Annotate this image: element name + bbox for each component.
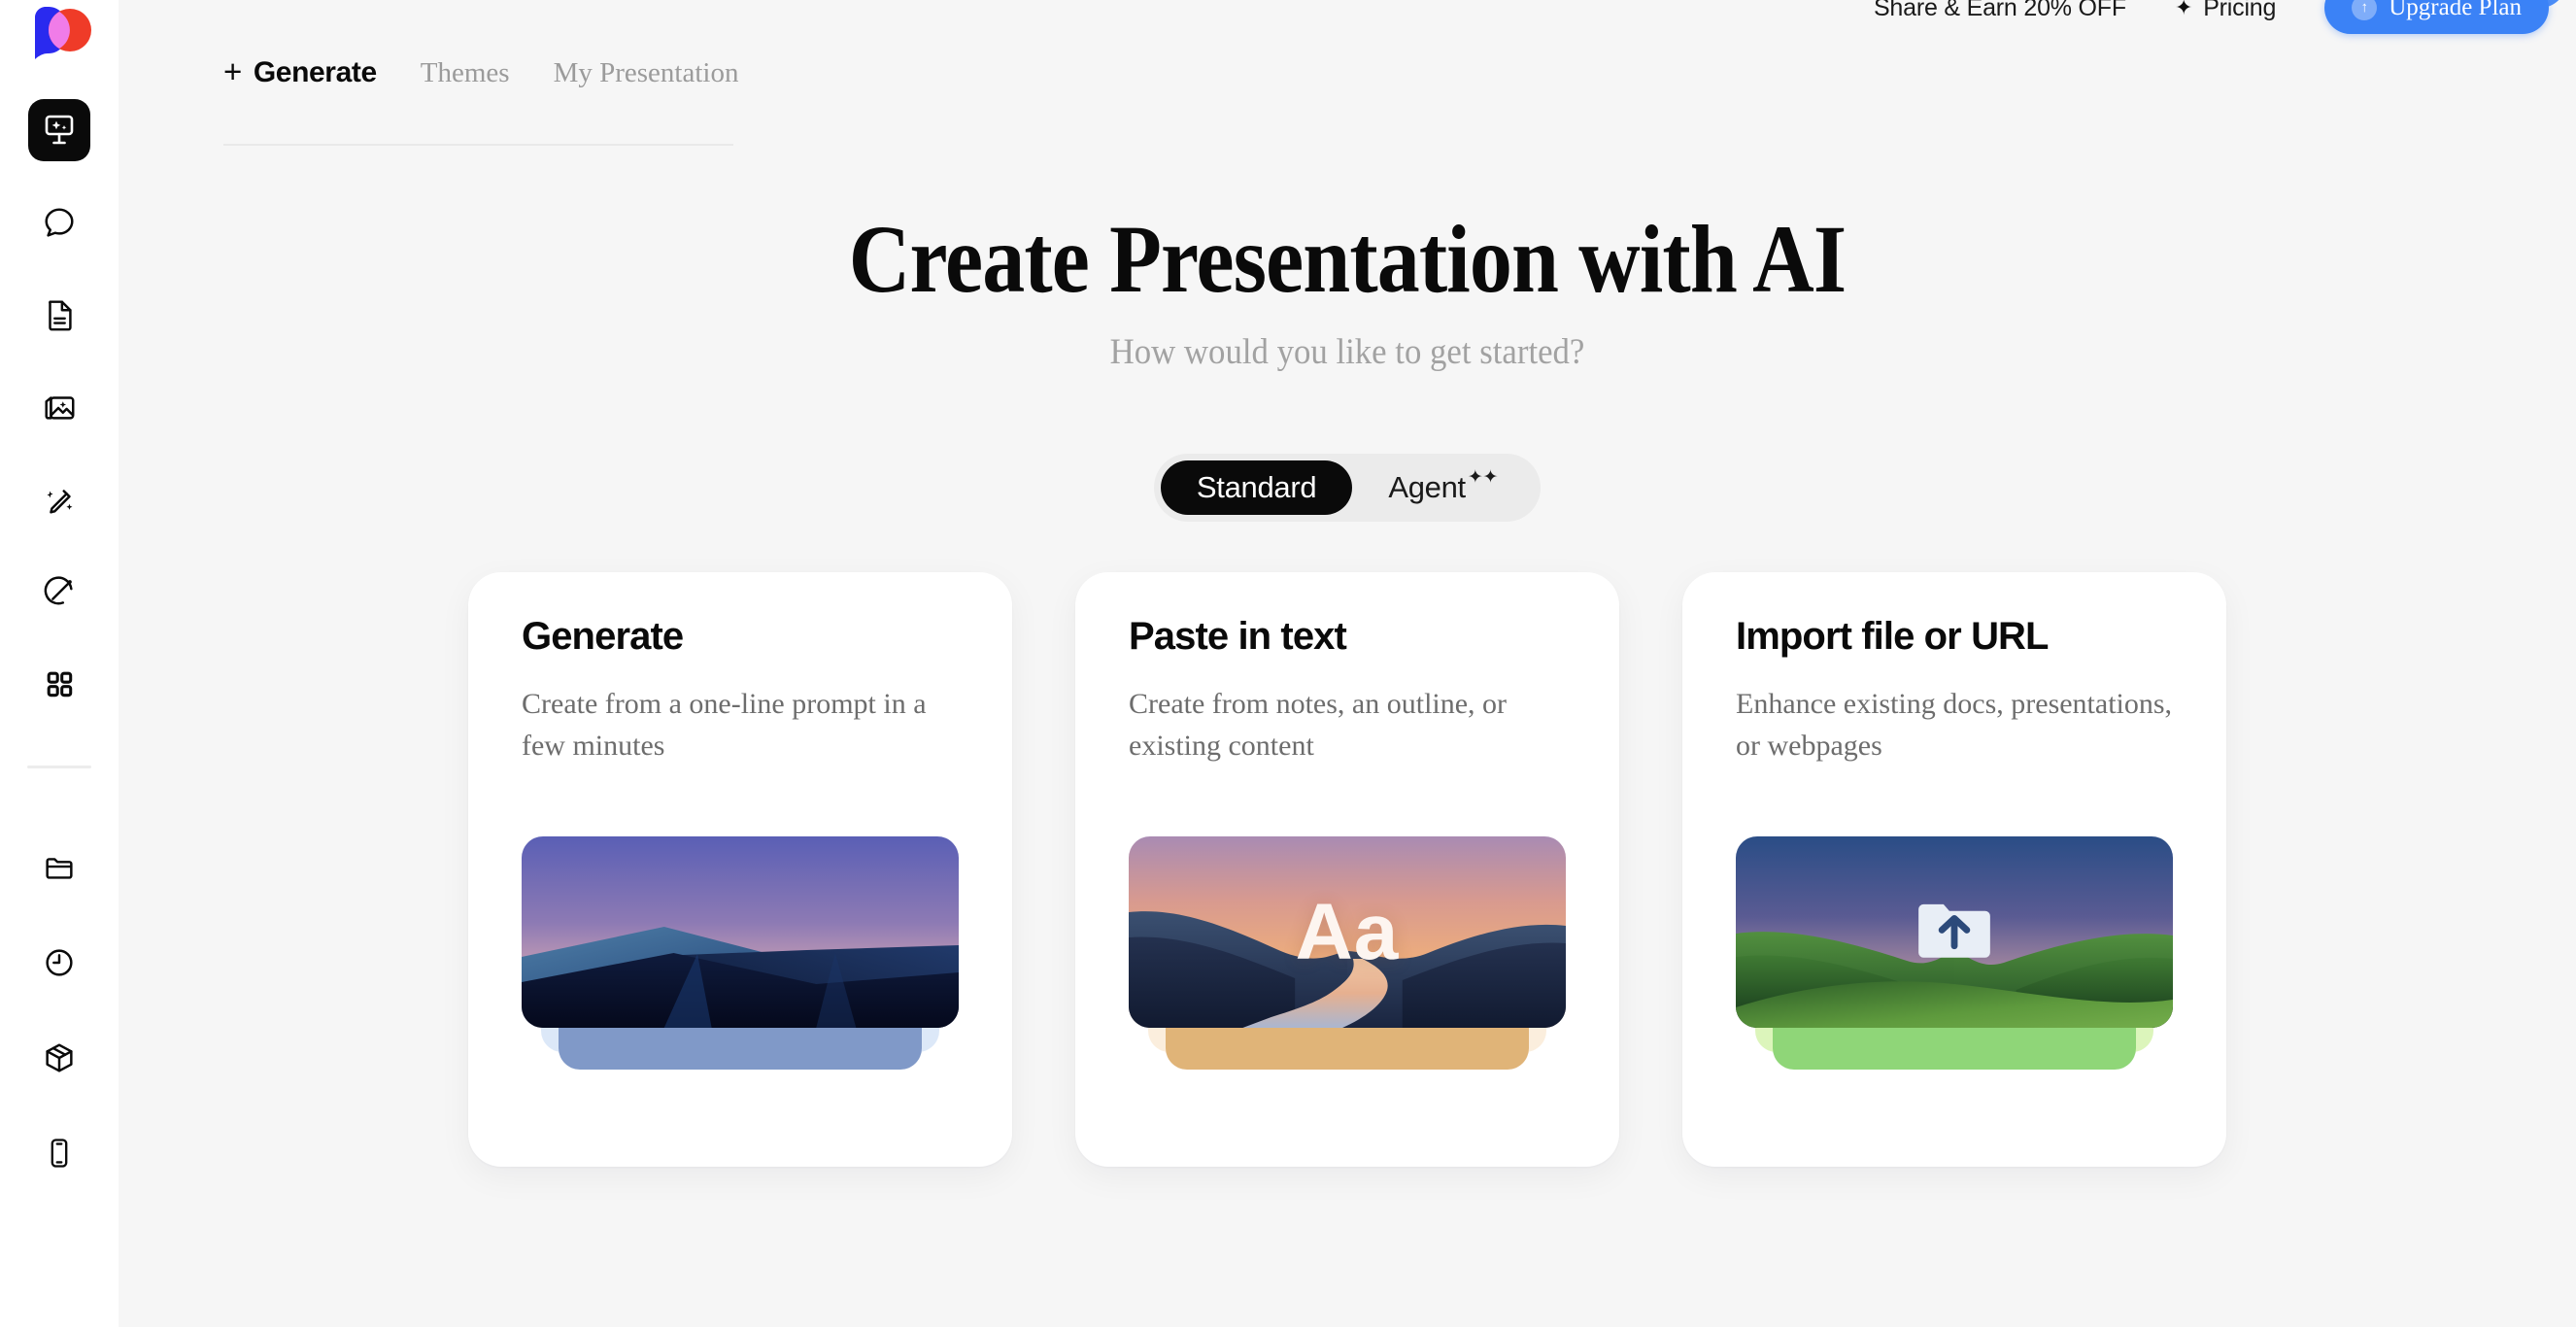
presentation-sparkle-icon (40, 111, 79, 150)
main-content: Share & Earn 20% OFF ✦ Pricing ↑ Upgrade… (119, 0, 2576, 1327)
share-and-earn-link[interactable]: Share & Earn 20% OFF (1874, 0, 2126, 22)
mode-option-agent[interactable]: Agent ✦✦ (1352, 460, 1534, 515)
sparkle-icon: ✦✦ (1468, 468, 1498, 487)
card-generate[interactable]: Generate Create from a one-line prompt i… (468, 572, 1012, 1167)
upload-circle-icon: ↑ (2352, 0, 2377, 20)
card-import-file-or-url-description: Enhance existing docs, presentations, or… (1736, 684, 2173, 766)
sidebar-rail-bottom (0, 836, 119, 1217)
box-icon (41, 1039, 78, 1076)
left-sidebar (0, 0, 119, 1327)
tab-my-presentation[interactable]: My Presentation (554, 57, 739, 89)
hero-section: Create Presentation with AI How would yo… (119, 208, 2576, 373)
mode-toggle: Standard Agent ✦✦ (1154, 454, 1541, 522)
plus-icon: + (223, 55, 242, 87)
mode-option-standard-label: Standard (1197, 470, 1316, 505)
card-generate-title: Generate (522, 615, 959, 659)
venn-logo[interactable] (21, 6, 97, 66)
card-paste-in-text[interactable]: Paste in text Create from notes, an outl… (1075, 572, 1619, 1167)
sidebar-item-history[interactable] (28, 932, 90, 994)
folder-icon (41, 849, 78, 886)
sidebar-divider (27, 766, 91, 768)
tab-generate-label: Generate (254, 56, 377, 89)
card-paste-in-text-title: Paste in text (1129, 615, 1566, 659)
upgrade-plan-button[interactable]: ↑ Upgrade Plan (2324, 0, 2549, 34)
view-tabs: + Generate Themes My Presentation (223, 56, 782, 89)
card-generate-artwork (522, 836, 959, 1138)
sidebar-item-folders[interactable] (28, 836, 90, 899)
mode-toggle-wrapper: Standard Agent ✦✦ (119, 454, 2576, 522)
page-title: Create Presentation with AI (266, 208, 2428, 310)
app-root: Share & Earn 20% OFF ✦ Pricing ↑ Upgrade… (0, 0, 2576, 1327)
card-generate-description: Create from a one-line prompt in a few m… (522, 684, 959, 766)
document-icon (41, 296, 78, 333)
chat-bubble-icon (41, 204, 78, 241)
sparkle-icon: ✦ (2175, 0, 2192, 18)
mode-option-standard[interactable]: Standard (1161, 460, 1352, 515)
option-cards: Generate Create from a one-line prompt i… (119, 572, 2576, 1167)
sidebar-item-packages[interactable] (28, 1027, 90, 1089)
sidebar-rail-top (0, 99, 119, 745)
upgrade-plan-label: Upgrade Plan (2389, 0, 2522, 21)
mode-option-agent-label: Agent (1388, 470, 1466, 505)
image-stack-sparkle-icon (40, 389, 79, 425)
sidebar-item-images[interactable] (28, 376, 90, 438)
pricing-link[interactable]: ✦ Pricing (2175, 0, 2276, 22)
folder-upload-icon (1913, 898, 1996, 968)
sidebar-item-mobile[interactable] (28, 1122, 90, 1184)
card-import-file-or-url-artwork (1736, 836, 2173, 1138)
tabs-underline (223, 144, 733, 146)
sunset-valley-illustration: Aa (1129, 836, 1566, 1028)
tab-themes[interactable]: Themes (421, 57, 510, 89)
card-import-file-or-url[interactable]: Import file or URL Enhance existing docs… (1682, 572, 2226, 1167)
card-paste-in-text-description: Create from notes, an outline, or existi… (1129, 684, 1566, 766)
phone-icon (42, 1136, 77, 1171)
sidebar-item-document[interactable] (28, 284, 90, 346)
sidebar-item-apps[interactable] (28, 653, 90, 715)
page-subtitle: How would you like to get started? (192, 331, 2502, 373)
sidebar-item-design[interactable] (28, 561, 90, 623)
card-import-file-or-url-title: Import file or URL (1736, 615, 2173, 659)
dune-dusk-illustration (522, 836, 959, 1028)
sidebar-item-presentation-ai[interactable] (28, 99, 90, 161)
card-paste-in-text-artwork: Aa (1129, 836, 1566, 1138)
tab-generate[interactable]: + Generate (223, 56, 377, 89)
clock-icon (41, 944, 78, 981)
pricing-label: Pricing (2203, 0, 2276, 22)
grid-apps-icon (42, 666, 77, 701)
sidebar-item-chat[interactable] (28, 191, 90, 254)
circle-pencil-icon (41, 573, 78, 610)
green-hills-illustration (1736, 836, 2173, 1028)
sidebar-item-write[interactable] (28, 468, 90, 530)
card-paste-in-text-glyph: Aa (1296, 893, 1400, 972)
top-utility-bar: Share & Earn 20% OFF ✦ Pricing ↑ Upgrade… (1874, 0, 2549, 41)
magic-pencil-icon (41, 481, 78, 518)
